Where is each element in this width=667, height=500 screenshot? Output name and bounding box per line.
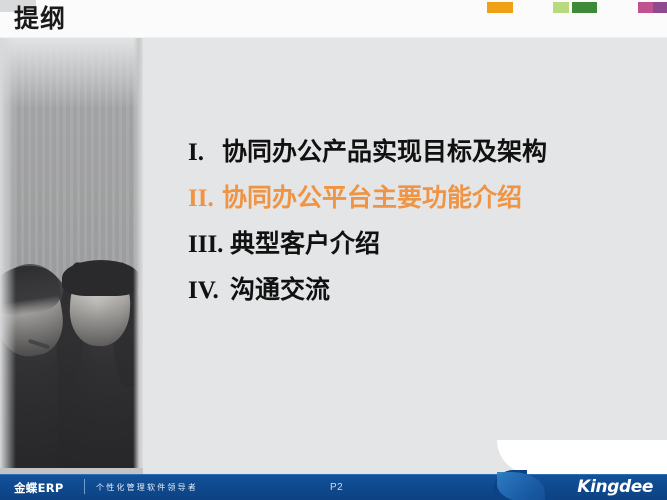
list-item[interactable]: II. 协同办公平台主要功能介绍 — [188, 178, 658, 214]
list-item[interactable]: IV. 沟通交流 — [188, 270, 658, 306]
footer-top-rule — [0, 474, 667, 475]
outline-item-numeral: IV. — [188, 277, 230, 305]
outline-item-label: 沟通交流 — [230, 270, 330, 306]
footer-swoosh-icon — [497, 472, 545, 500]
footer-tagline: 个性化管理软件领导者 — [96, 482, 198, 493]
purple-chip — [653, 2, 667, 13]
slide-content-area: I. 协同办公产品实现目标及架构 II. 协同办公平台主要功能介绍 III. 典… — [143, 38, 667, 474]
footer-logo-notch — [497, 440, 667, 474]
kingdee-logo: Kingdee — [577, 477, 653, 497]
photo-top-fade — [0, 38, 143, 108]
light-green-chip — [553, 2, 569, 13]
outline-item-numeral: II. — [188, 185, 222, 213]
outline-item-label: 协同办公平台主要功能介绍 — [222, 178, 522, 214]
header-accent-chips — [0, 0, 667, 14]
outline-item-numeral: III. — [188, 231, 230, 259]
photo-shadow-overlay — [0, 284, 143, 474]
list-item[interactable]: I. 协同办公产品实现目标及架构 — [188, 132, 658, 168]
footer-divider — [84, 479, 85, 494]
outline-item-label: 典型客户介绍 — [230, 224, 380, 260]
presentation-slide: I. 协同办公产品实现目标及架构 II. 协同办公平台主要功能介绍 III. 典… — [0, 0, 667, 500]
photo-left-highlight — [0, 38, 16, 474]
orange-chip — [487, 2, 513, 13]
outline-item-numeral: I. — [188, 139, 222, 167]
footer-brand-label: 金蝶ERP — [14, 480, 64, 496]
outline-item-label: 协同办公产品实现目标及架构 — [222, 132, 547, 168]
outline-list: I. 协同办公产品实现目标及架构 II. 协同办公平台主要功能介绍 III. 典… — [188, 132, 658, 316]
photo-right-edge — [133, 38, 143, 474]
slide-photo-panel — [0, 38, 143, 474]
list-item[interactable]: III. 典型客户介绍 — [188, 224, 658, 260]
slide-footer: 金蝶ERP 个性化管理软件领导者 P2 Kingdee — [0, 474, 667, 500]
magenta-chip — [638, 2, 653, 13]
page-number: P2 — [330, 482, 343, 493]
dark-green-chip — [572, 2, 597, 13]
